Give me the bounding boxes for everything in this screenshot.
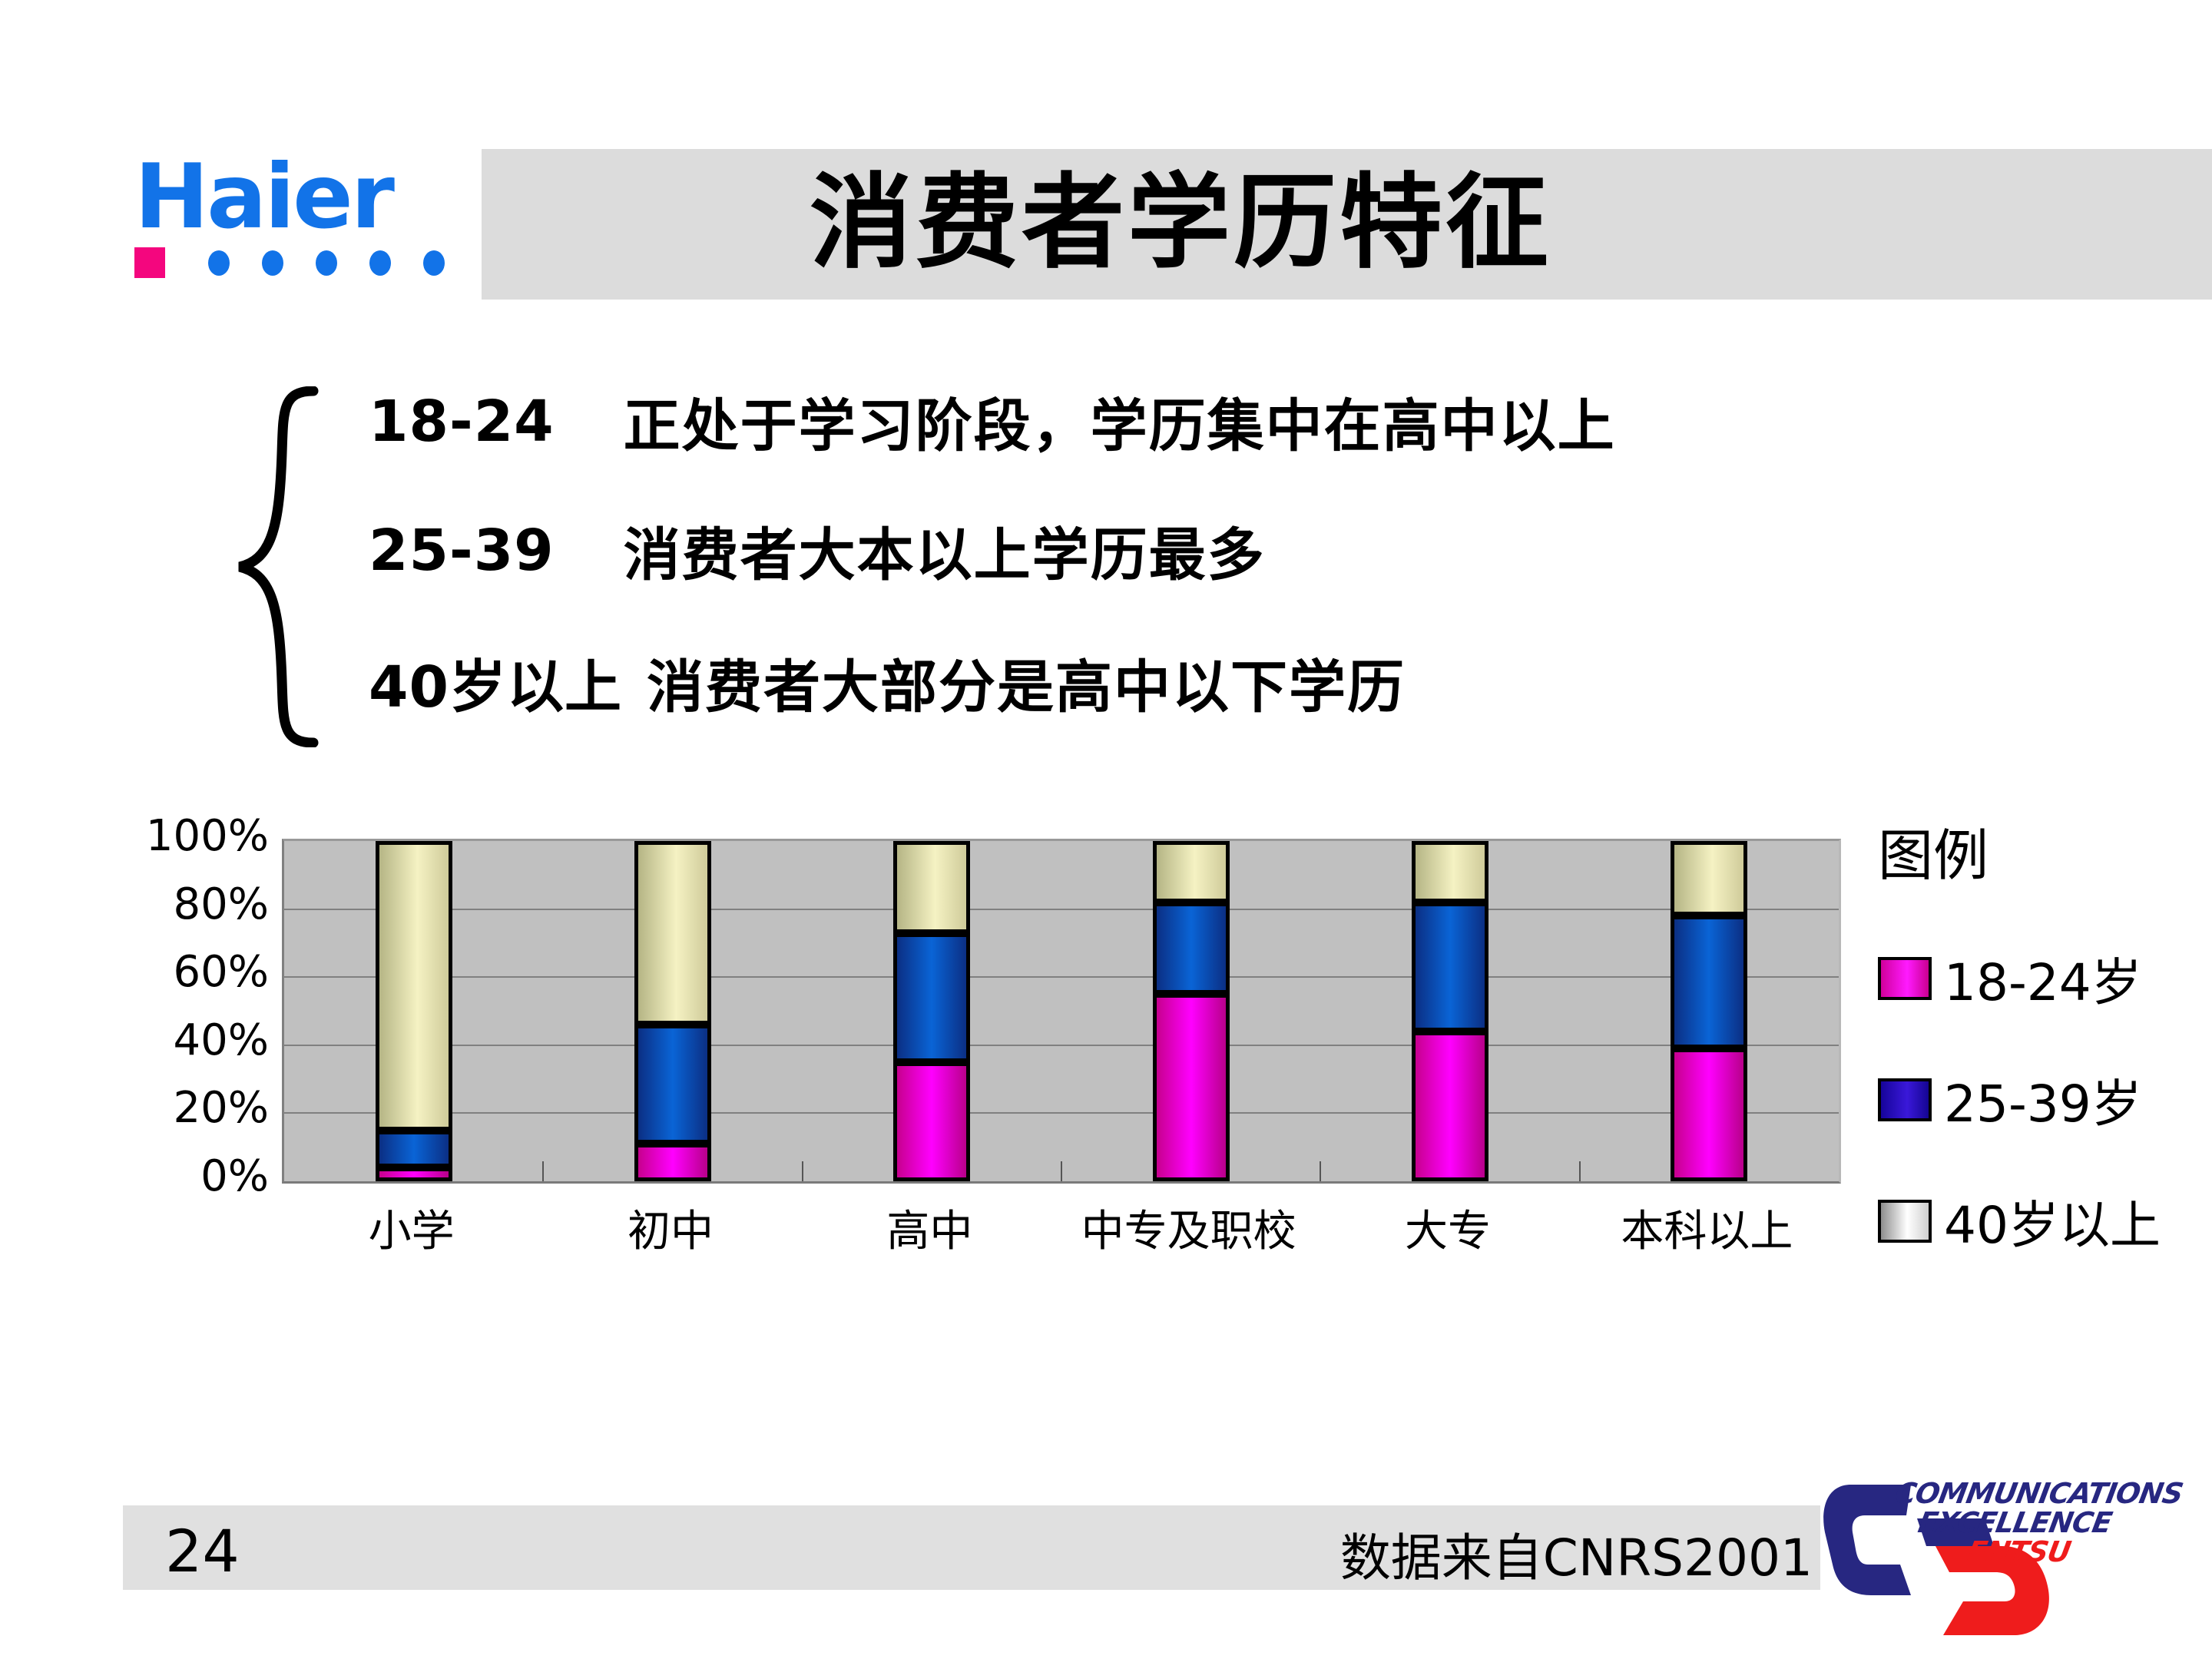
bullet-age-label: 25-39 [369,518,555,584]
haier-logo-dot-4 [369,250,391,276]
bar-segment-18-24 [893,1062,970,1181]
bar-segment-40-plus [634,841,711,1025]
bar-segment-25-39 [634,1025,711,1144]
bullet-age-label: 40岁以上 [369,641,622,724]
y-axis-tick-label: 80% [174,879,269,929]
page-number: 24 [165,1517,240,1585]
legend-title: 图例 [1878,810,2208,891]
chart-plot-area [282,839,1841,1184]
legend-item-label: 18-24岁 [1944,942,2142,1015]
haier-logo-dots [134,247,465,278]
gridline [284,1112,1839,1114]
bar-高中 [893,841,970,1181]
y-axis-tick-label: 60% [174,947,269,997]
bullet-description: 消费者大部分是高中以下学历 [647,641,1406,724]
bar-segment-18-24 [376,1167,452,1181]
haier-logo-square [134,247,165,278]
legend-swatch-icon [1878,1078,1932,1121]
y-axis-tick-label: 40% [174,1015,269,1065]
bar-segment-40-plus [893,841,970,933]
bar-本科以上 [1671,841,1747,1181]
x-axis-tick [542,1161,544,1181]
bar-segment-25-39 [893,933,970,1062]
bar-小学 [376,841,452,1181]
bar-segment-18-24 [634,1144,711,1181]
bar-segment-25-39 [376,1131,452,1168]
ced-logo: COMMUNICATIONS EXCELLENCE ENTSU [1820,1479,2143,1655]
bar-segment-18-24 [1671,1048,1747,1181]
gridline [284,976,1839,978]
legend-item-18-24: 18-24岁 [1878,942,2208,1015]
bar-segment-40-plus [376,841,452,1131]
y-axis-tick-labels: 0%20%40%60%80%100% [61,839,269,1179]
gridline [284,909,1839,910]
bullet-age-label: 18-24 [369,389,555,455]
x-axis-label: 本科以上 [1507,1197,1906,1259]
bullet-description: 正处于学习阶段，学历集中在高中以上 [624,380,1616,462]
bar-segment-40-plus [1671,841,1747,916]
ced-logo-line2: EXCELLENCE [1916,1506,2114,1539]
x-axis-tick [802,1161,803,1181]
legend-swatch-icon [1878,957,1932,1000]
bar-segment-25-39 [1671,916,1747,1048]
legend-item-40-plus: 40岁以上 [1878,1184,2208,1258]
legend-item-25-39: 25-39岁 [1878,1063,2208,1137]
list-item: 18-24 正处于学习阶段，学历集中在高中以上 [369,380,1616,462]
summary-list: 18-24 正处于学习阶段，学历集中在高中以上 25-39 消费者大本以上学历最… [230,380,2074,757]
bar-segment-18-24 [1412,1031,1488,1181]
haier-wordmark: Haier [134,151,465,244]
haier-logo: Haier [134,151,465,296]
list-item: 25-39 消费者大本以上学历最多 [369,509,1266,591]
x-axis-tick [1320,1161,1321,1181]
bullet-description: 消费者大本以上学历最多 [624,509,1266,591]
list-item: 40岁以上 消费者大部分是高中以下学历 [369,641,1406,724]
haier-logo-dot-5 [423,250,445,276]
haier-logo-dot-1 [208,250,230,276]
bar-初中 [634,841,711,1181]
y-axis-tick-label: 20% [174,1083,269,1133]
bar-segment-40-plus [1412,841,1488,902]
bar-segment-18-24 [1153,994,1230,1181]
legend-item-label: 25-39岁 [1944,1063,2142,1137]
curly-brace-icon [230,386,323,747]
bar-segment-40-plus [1153,841,1230,902]
y-axis-tick-label: 0% [200,1151,269,1201]
legend-item-label: 40岁以上 [1944,1184,2161,1258]
bar-segment-25-39 [1153,902,1230,995]
bar-segment-25-39 [1412,902,1488,1031]
page-title: 消费者学历特征 [482,146,1879,300]
ced-logo-line1: COMMUNICATIONS [1892,1477,2185,1510]
x-axis-tick [1579,1161,1581,1181]
bar-中专及职校 [1153,841,1230,1181]
y-axis-tick-label: 100% [146,811,269,861]
haier-logo-dot-3 [316,250,337,276]
gridline [284,1045,1839,1046]
source-note: 数据来自CNRS2001 [1340,1517,1813,1591]
haier-logo-dot-2 [262,250,283,276]
chart-legend: 图例 18-24岁 25-39岁 40岁以上 [1878,810,2208,1271]
ced-logo-line3: ENTSU [1965,1535,2073,1568]
bar-大专 [1412,841,1488,1181]
x-axis-tick [1061,1161,1062,1181]
